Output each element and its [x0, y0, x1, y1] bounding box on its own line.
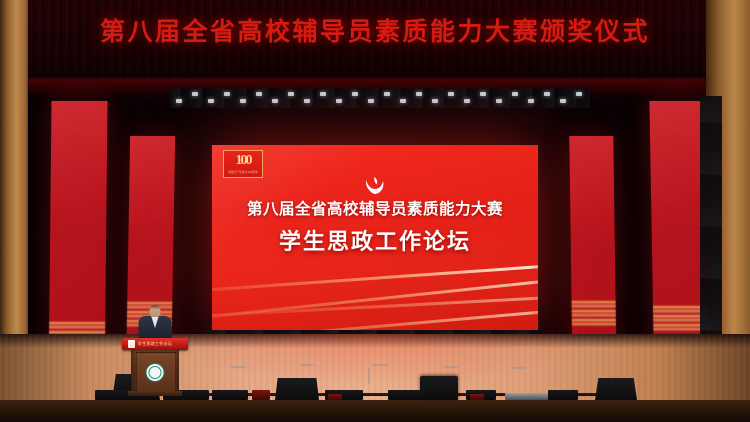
university-emblem — [146, 363, 165, 382]
stage-gear-box — [548, 390, 578, 400]
truss-lamp-icon — [464, 99, 470, 103]
screen-title-block: 第八届全省高校辅导员素质能力大赛 学生思政工作论坛 — [212, 197, 538, 256]
floor-red-reflection — [150, 334, 600, 386]
university-emblem-inner — [149, 366, 162, 379]
stage-gear-box-red — [252, 390, 270, 400]
floor-marking — [372, 364, 388, 366]
truss-lamp-icon — [272, 99, 278, 103]
stage-apron — [0, 400, 750, 422]
truss-lamp-icon — [560, 99, 566, 103]
truss-lamp-icon — [416, 92, 422, 96]
truss-lamp-icon — [576, 92, 582, 96]
stage-monitor-2 — [275, 378, 319, 400]
truss-lamp-icon — [192, 92, 198, 96]
truss-lamp-icon — [368, 99, 374, 103]
truss-lamp-icon — [496, 99, 502, 103]
floor-marking — [444, 366, 458, 368]
screen-title-line-1: 第八届全省高校辅导员素质能力大赛 — [212, 197, 538, 219]
truss-lamp-icon — [224, 92, 230, 96]
podium-banner-text: 学生思政工作论坛 — [138, 341, 172, 347]
truss-lamp-icon — [336, 99, 342, 103]
stage-gear-box-red — [470, 394, 484, 400]
truss-lamp-icon — [352, 92, 358, 96]
truss-lamp-icon — [512, 92, 518, 96]
lighting-truss — [170, 88, 590, 108]
truss-lamp-icon — [400, 99, 406, 103]
cpc-centennial-logo: 100 中国共产党成立100周年 — [223, 150, 263, 178]
ceremony-banner-title: 第八届全省高校辅导员素质能力大赛颁奖仪式 — [0, 12, 750, 48]
podium-group: 学生思政工作论坛 — [122, 305, 188, 395]
competition-emblem — [362, 175, 388, 197]
truss-lamp-icon — [544, 92, 550, 96]
stage-floor — [0, 334, 750, 422]
truss-lamp-icon — [176, 99, 182, 103]
stage-gear-box — [388, 390, 422, 400]
floor-center-mark — [368, 368, 370, 384]
speaker-head — [150, 305, 161, 318]
stage-monitor-4 — [595, 378, 637, 400]
truss-lamp-icon — [304, 99, 310, 103]
centennial-digits: 100 — [236, 154, 251, 168]
stage-photograph: 第八届全省高校辅导员素质能力大赛颁奖仪式 100 中国共产党成立100周年 — [0, 0, 750, 422]
truss-lamp-icon — [528, 99, 534, 103]
stage-gear-box-silver — [505, 393, 549, 400]
truss-lamp-icon — [320, 92, 326, 96]
podium-base — [128, 391, 182, 396]
truss-lamp-icon — [288, 92, 294, 96]
podium-banner-mark — [128, 340, 135, 348]
floor-marking — [230, 366, 246, 368]
main-led-screen: 100 中国共产党成立100周年 第八届全省高校辅导员素质能力大赛 学生思政工作… — [212, 145, 538, 330]
screen-title-line-2: 学生思政工作论坛 — [212, 224, 538, 256]
floor-marking — [300, 364, 314, 366]
truss-lamp-icon — [432, 99, 438, 103]
truss-lamp-icon — [208, 99, 214, 103]
stage-gear-box-red — [328, 394, 342, 400]
truss-lamp-icon — [480, 92, 486, 96]
truss-lamp-icon — [448, 92, 454, 96]
stage-gear-box — [212, 390, 248, 400]
truss-lamp-icon — [240, 99, 246, 103]
centennial-caption: 中国共产党成立100周年 — [228, 170, 258, 174]
stage-monitor-3 — [420, 376, 458, 400]
screen-light-beam — [212, 263, 538, 296]
truss-lamp-icon — [384, 92, 390, 96]
truss-lamp-icon — [256, 92, 262, 96]
panel-flare — [572, 300, 616, 326]
floor-marking — [512, 367, 526, 369]
